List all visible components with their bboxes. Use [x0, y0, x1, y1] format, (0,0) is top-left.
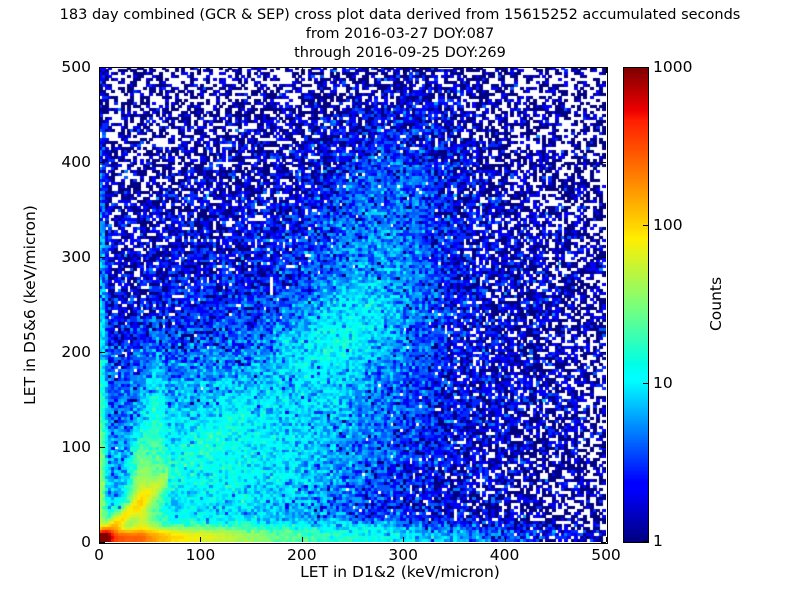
colorbar-gradient: [624, 68, 648, 542]
y-ticklabel-400: 400: [0, 153, 91, 171]
y-ticklabel-200: 200: [0, 343, 91, 361]
scatter-density-plot: [99, 67, 606, 542]
plot-title: 183 day combined (GCR & SEP) cross plot …: [0, 6, 800, 63]
y-ticklabel-500: 500: [0, 58, 91, 76]
y-axis-label: LET in D5&6 (keV/micron): [21, 205, 39, 405]
x-tick-500: [606, 537, 607, 542]
x-ticklabel-100: 100: [186, 546, 216, 564]
title-line-1: 183 day combined (GCR & SEP) cross plot …: [0, 6, 800, 25]
colorbar-ticklabel-10: 10: [653, 374, 673, 392]
x-ticklabel-500: 500: [591, 546, 621, 564]
x-ticklabel-200: 200: [287, 546, 317, 564]
colorbar-label: Counts: [707, 277, 725, 331]
x-ticklabel-300: 300: [388, 546, 418, 564]
colorbar-ticklabel-100: 100: [653, 216, 683, 234]
y-ticklabel-100: 100: [0, 438, 91, 456]
x-tick-top-500: [606, 68, 607, 73]
y-tick-right-0: [601, 542, 606, 543]
x-axis-label: LET in D1&2 (keV/micron): [0, 563, 800, 581]
x-ticklabel-0: 0: [94, 546, 104, 564]
y-ticklabel-0: 0: [0, 533, 91, 551]
y-ticklabel-300: 300: [0, 248, 91, 266]
colorbar-ticklabel-1: 1: [653, 532, 663, 550]
figure-canvas: 183 day combined (GCR & SEP) cross plot …: [0, 0, 800, 600]
y-tick-0: [100, 542, 105, 543]
title-line-2: from 2016-03-27 DOY:087: [0, 25, 800, 44]
x-ticklabel-400: 400: [490, 546, 520, 564]
colorbar-ticklabel-1000: 1000: [653, 58, 692, 76]
